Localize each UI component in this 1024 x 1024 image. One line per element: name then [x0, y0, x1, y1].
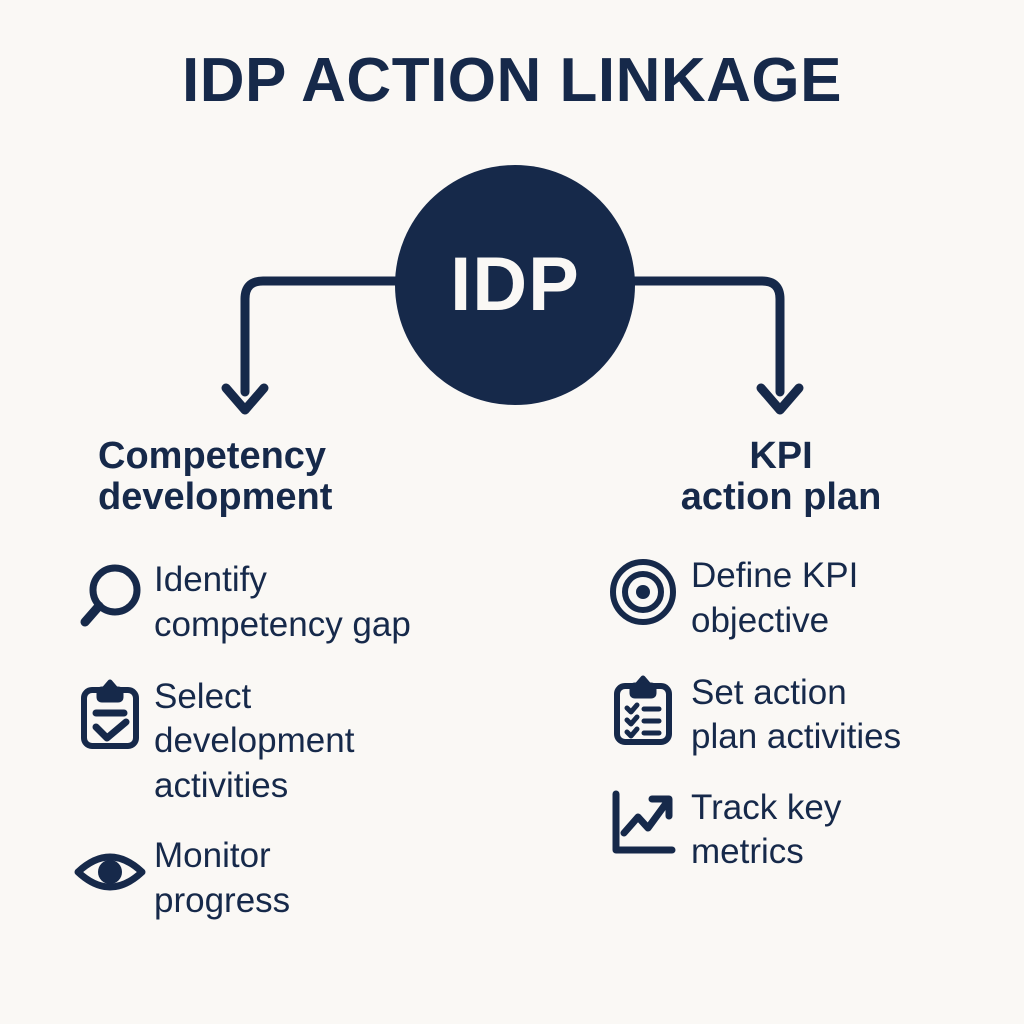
- branch-heading-kpi-action-plan: KPI action plan: [575, 436, 1015, 518]
- branch-kpi-action-plan: KPI action plan Define KPI objective: [575, 436, 1015, 897]
- item-list-competency-development: Identify competency gap Select developme…: [60, 556, 520, 923]
- item-list-kpi-action-plan: Define KPI objective Set action p: [575, 552, 1015, 875]
- target-icon: [607, 552, 679, 628]
- list-item-label: Set action plan activities: [691, 669, 901, 760]
- clipboard-check-icon: [74, 673, 146, 749]
- list-item[interactable]: Set action plan activities: [607, 669, 1015, 760]
- list-item-label: Select development activities: [154, 673, 354, 808]
- list-item[interactable]: Track key metrics: [607, 784, 1015, 875]
- branch-heading-competency-development: Competency development: [60, 436, 520, 518]
- elbow-arrow-right: [630, 281, 799, 410]
- list-item[interactable]: Monitor progress: [74, 832, 520, 923]
- magnifier-icon: [74, 556, 146, 632]
- eye-icon: [74, 832, 146, 908]
- diagram-canvas: IDP ACTION LINKAGE IDP Competency develo…: [0, 0, 1024, 1024]
- list-item[interactable]: Identify competency gap: [74, 556, 520, 647]
- list-item[interactable]: Select development activities: [74, 673, 520, 808]
- list-item-label: Define KPI objective: [691, 552, 858, 643]
- list-item[interactable]: Define KPI objective: [607, 552, 1015, 643]
- page-title: IDP ACTION LINKAGE: [0, 50, 1024, 112]
- clipboard-list-icon: [607, 669, 679, 745]
- elbow-arrow-left: [226, 281, 398, 410]
- hub-node-idp: IDP: [395, 165, 635, 405]
- list-item-label: Identify competency gap: [154, 556, 411, 647]
- list-item-label: Track key metrics: [691, 784, 841, 875]
- list-item-label: Monitor progress: [154, 832, 290, 923]
- branch-competency-development: Competency development Identify competen…: [60, 436, 520, 945]
- trending-up-chart-icon: [607, 784, 679, 860]
- hub-label: IDP: [450, 247, 580, 323]
